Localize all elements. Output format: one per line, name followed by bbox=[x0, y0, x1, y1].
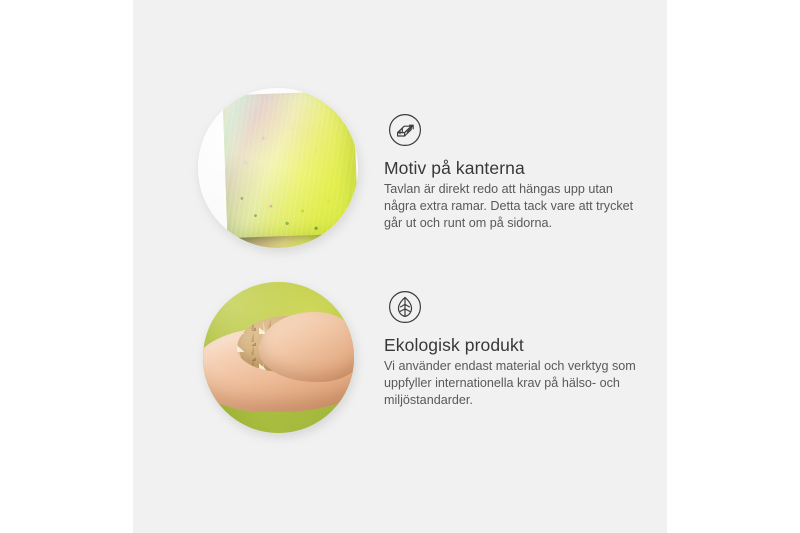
eco-photo-stage bbox=[203, 282, 354, 433]
content-panel bbox=[133, 0, 667, 533]
leaf-icon bbox=[385, 287, 425, 327]
feature-image-edges bbox=[198, 88, 358, 248]
feature-title-edges: Motiv på kanterna bbox=[384, 157, 525, 179]
feature-body-edges: Tavlan är direkt redo att hängas upp uta… bbox=[384, 181, 644, 233]
feature-title-eco: Ekologisk produkt bbox=[384, 334, 524, 356]
canvas-photo-stage bbox=[198, 88, 358, 248]
infographic-root: Motiv på kanterna Tavlan är direkt redo … bbox=[0, 0, 800, 533]
feature-image-eco bbox=[203, 282, 354, 433]
feature-body-eco: Vi använder endast material och verktyg … bbox=[384, 358, 644, 410]
canvas-print-face bbox=[222, 91, 358, 243]
wrapped-canvas-edge-icon bbox=[385, 110, 425, 150]
canvas-streak-texture bbox=[222, 91, 358, 243]
